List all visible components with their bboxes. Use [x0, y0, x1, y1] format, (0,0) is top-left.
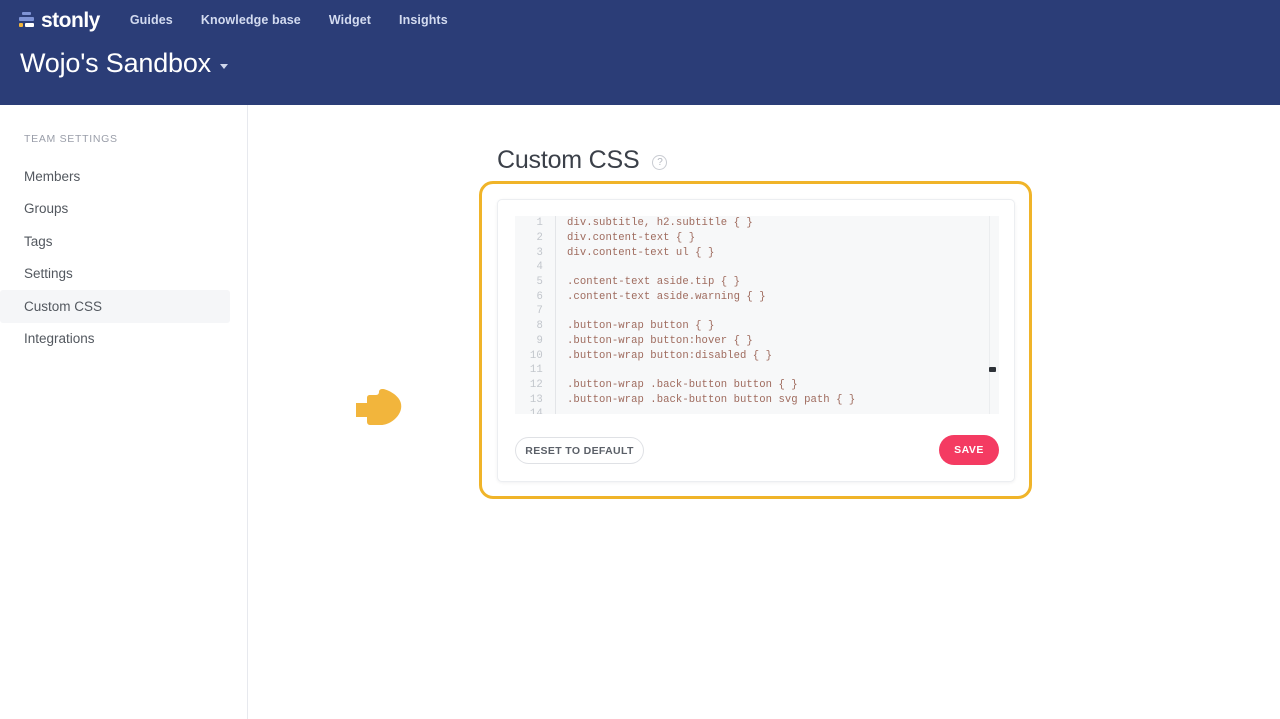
code-line-text: .button-wrap button:hover { }	[556, 335, 753, 347]
line-number: 5	[515, 276, 555, 288]
reset-to-default-button[interactable]: RESET TO DEFAULT	[515, 437, 644, 464]
editor-scrollbar-track[interactable]	[989, 216, 996, 414]
code-line-text: div.content-text ul { }	[556, 247, 714, 259]
gutter-separator	[555, 260, 556, 275]
code-line[interactable]: 13.button-wrap .back-button button svg p…	[515, 392, 999, 407]
sidebar-item-groups[interactable]: Groups	[0, 193, 230, 226]
line-number: 4	[515, 261, 555, 273]
workspace-title: Wojo's Sandbox	[20, 48, 211, 79]
sidebar-item-tags[interactable]: Tags	[0, 225, 230, 258]
code-line[interactable]: 4	[515, 260, 999, 275]
code-line[interactable]: 11	[515, 363, 999, 378]
line-number: 12	[515, 379, 555, 391]
code-line-text: .button-wrap button { }	[556, 320, 714, 332]
nav-link-guides[interactable]: Guides	[130, 13, 173, 27]
code-line[interactable]: 9.button-wrap button:hover { }	[515, 334, 999, 349]
top-navigation: stonly Guides Knowledge base Widget Insi…	[0, 0, 1280, 40]
nav-links: Guides Knowledge base Widget Insights	[130, 13, 448, 27]
stonly-blocks-icon	[18, 12, 35, 29]
line-number: 2	[515, 232, 555, 244]
sidebar: TEAM SETTINGS Members Groups Tags Settin…	[0, 105, 248, 719]
code-line-text: div.subtitle, h2.subtitle { }	[556, 217, 753, 229]
save-button[interactable]: SAVE	[939, 435, 999, 465]
code-line[interactable]: 12.button-wrap .back-button button { }	[515, 378, 999, 393]
code-line[interactable]: 3div.content-text ul { }	[515, 245, 999, 260]
gutter-separator	[555, 363, 556, 378]
brand-logo-text: stonly	[41, 10, 100, 31]
sidebar-item-custom-css[interactable]: Custom CSS	[0, 290, 230, 323]
question-mark-circle-icon[interactable]: ?	[652, 155, 667, 170]
workspace-switcher[interactable]: Wojo's Sandbox	[0, 48, 228, 79]
code-line-text: .content-text aside.tip { }	[556, 276, 740, 288]
line-number: 9	[515, 335, 555, 347]
nav-link-insights[interactable]: Insights	[399, 13, 448, 27]
sidebar-item-members[interactable]: Members	[0, 160, 230, 193]
code-line[interactable]: 6.content-text aside.warning { }	[515, 289, 999, 304]
line-number: 13	[515, 394, 555, 406]
code-line-text: .button-wrap .back-button button { }	[556, 379, 798, 391]
line-number: 3	[515, 247, 555, 259]
top-header-bar: stonly Guides Knowledge base Widget Insi…	[0, 0, 1280, 105]
code-line[interactable]: 2div.content-text { }	[515, 231, 999, 246]
code-lines[interactable]: 1div.subtitle, h2.subtitle { }2div.conte…	[515, 216, 999, 414]
page-title: Custom CSS	[497, 146, 639, 175]
code-line[interactable]: 1div.subtitle, h2.subtitle { }	[515, 216, 999, 231]
code-line-text: div.content-text { }	[556, 232, 695, 244]
code-line-text: .content-text aside.warning { }	[556, 291, 766, 303]
nav-link-widget[interactable]: Widget	[329, 13, 371, 27]
gutter-separator	[555, 304, 556, 319]
page-title-row: Custom CSS ?	[497, 146, 667, 175]
line-number: 8	[515, 320, 555, 332]
pointing-hand-cursor	[354, 387, 406, 427]
code-line-text: .button-wrap .back-button button svg pat…	[556, 394, 855, 406]
code-line[interactable]: 5.content-text aside.tip { }	[515, 275, 999, 290]
sidebar-heading: TEAM SETTINGS	[24, 133, 118, 145]
nav-link-knowledge-base[interactable]: Knowledge base	[201, 13, 301, 27]
chevron-down-icon	[220, 64, 228, 69]
line-number: 1	[515, 217, 555, 229]
gutter-separator	[555, 407, 556, 414]
line-number: 11	[515, 364, 555, 376]
sidebar-item-list: Members Groups Tags Settings Custom CSS …	[0, 160, 248, 355]
main-content: Custom CSS ? 1div.subtitle, h2.subtitle …	[248, 105, 1280, 719]
css-code-editor[interactable]: 1div.subtitle, h2.subtitle { }2div.conte…	[515, 216, 999, 414]
code-line[interactable]: 10.button-wrap button:disabled { }	[515, 348, 999, 363]
line-number: 6	[515, 291, 555, 303]
code-line[interactable]: 8.button-wrap button { }	[515, 319, 999, 334]
code-line[interactable]: 14	[515, 407, 999, 414]
sidebar-item-integrations[interactable]: Integrations	[0, 323, 230, 356]
editor-scrollbar-thumb[interactable]	[989, 367, 996, 372]
code-line[interactable]: 7	[515, 304, 999, 319]
sidebar-item-settings[interactable]: Settings	[0, 258, 230, 291]
brand-logo[interactable]: stonly	[18, 10, 100, 31]
line-number: 14	[515, 408, 555, 414]
code-line-text: .button-wrap button:disabled { }	[556, 350, 772, 362]
custom-css-card: 1div.subtitle, h2.subtitle { }2div.conte…	[497, 199, 1015, 482]
card-footer: RESET TO DEFAULT SAVE	[498, 415, 1016, 483]
line-number: 10	[515, 350, 555, 362]
line-number: 7	[515, 305, 555, 317]
